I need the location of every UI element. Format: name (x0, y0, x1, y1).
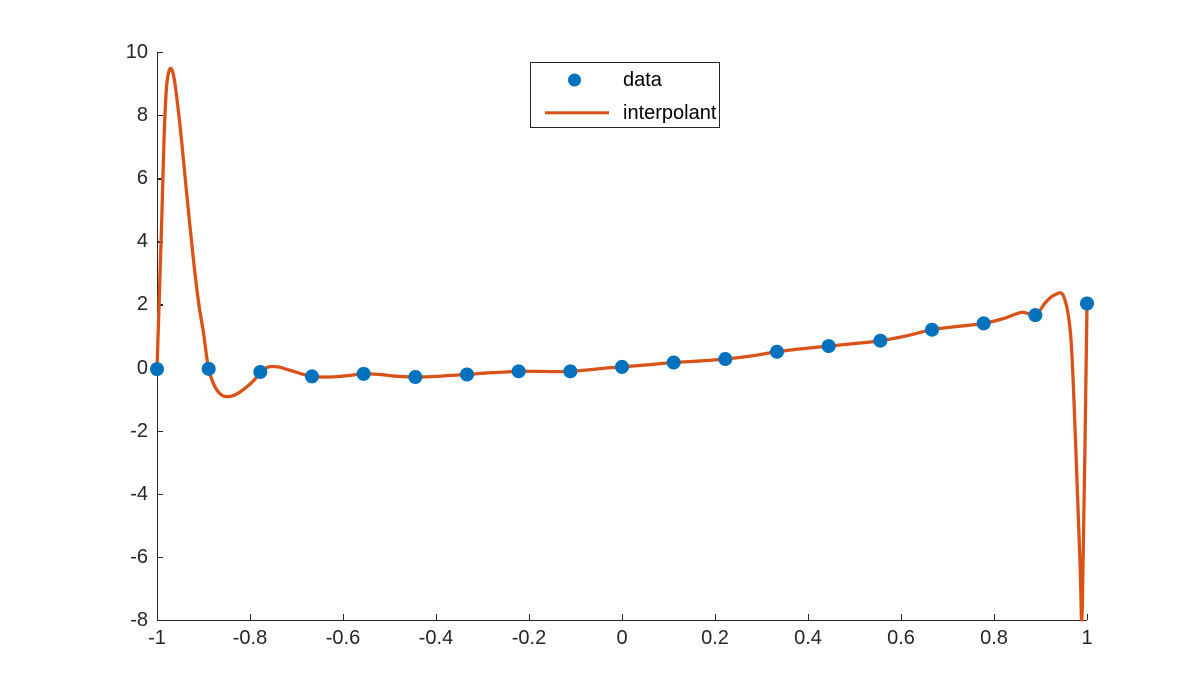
data-point-marker (253, 365, 267, 379)
data-point-marker (512, 364, 526, 378)
x-tick-label: 0.4 (794, 628, 822, 648)
y-tick-label: -4 (130, 484, 148, 504)
x-tick-label: -0.8 (233, 628, 267, 648)
data-point-marker (408, 370, 422, 384)
y-tick (157, 620, 163, 621)
circle-marker-icon (568, 73, 581, 86)
y-tick-label: -2 (130, 421, 148, 441)
x-tick-label: -1 (148, 628, 166, 648)
data-point-marker (1080, 297, 1094, 311)
data-point-marker (718, 352, 732, 366)
data-point-marker (357, 367, 371, 381)
legend-label-interpolant: interpolant (623, 103, 716, 123)
data-point-marker (822, 339, 836, 353)
plot-area (157, 52, 1087, 620)
data-point-marker (563, 364, 577, 378)
x-tick-label: 0.6 (887, 628, 915, 648)
data-point-marker (925, 323, 939, 337)
y-tick-label: 0 (137, 358, 148, 378)
x-tick-label: -0.4 (419, 628, 453, 648)
x-tick-label: 1 (1081, 628, 1092, 648)
data-point-marker (305, 369, 319, 383)
y-tick-label: 8 (137, 105, 148, 125)
legend-entry-data[interactable]: data (531, 63, 719, 96)
data-point-marker (615, 360, 629, 374)
x-tick-label: -0.2 (512, 628, 546, 648)
x-tick (1087, 614, 1088, 620)
x-tick-label: -0.6 (326, 628, 360, 648)
data-point-marker (873, 334, 887, 348)
x-tick-label: 0.2 (701, 628, 729, 648)
legend[interactable]: data interpolant (530, 62, 720, 128)
legend-sample-interpolant (531, 96, 623, 129)
data-point-marker (1028, 308, 1042, 322)
interpolant-curve (157, 68, 1087, 620)
x-tick-label: 0.8 (980, 628, 1008, 648)
plot-canvas (157, 52, 1087, 620)
y-tick-label: 2 (137, 294, 148, 314)
y-tick-label: 4 (137, 231, 148, 251)
matlab-figure: 1086420-2-4-6-8 -1-0.8-0.6-0.4-0.200.20.… (0, 0, 1200, 700)
y-tick-label: 6 (137, 168, 148, 188)
legend-entry-interpolant[interactable]: interpolant (531, 96, 719, 129)
y-tick-label: -8 (130, 610, 148, 630)
data-point-marker (202, 362, 216, 376)
x-axis-line (157, 620, 1087, 621)
y-tick-label: -6 (130, 547, 148, 567)
data-point-marker (667, 356, 681, 370)
x-tick-label: 0 (616, 628, 627, 648)
data-point-marker (977, 316, 991, 330)
line-sample-icon (545, 111, 609, 114)
data-point-marker (150, 362, 164, 376)
data-point-marker (770, 345, 784, 359)
legend-sample-data (531, 63, 623, 96)
legend-label-data: data (623, 70, 662, 90)
data-point-marker (460, 368, 474, 382)
y-tick-label: 10 (126, 42, 148, 62)
